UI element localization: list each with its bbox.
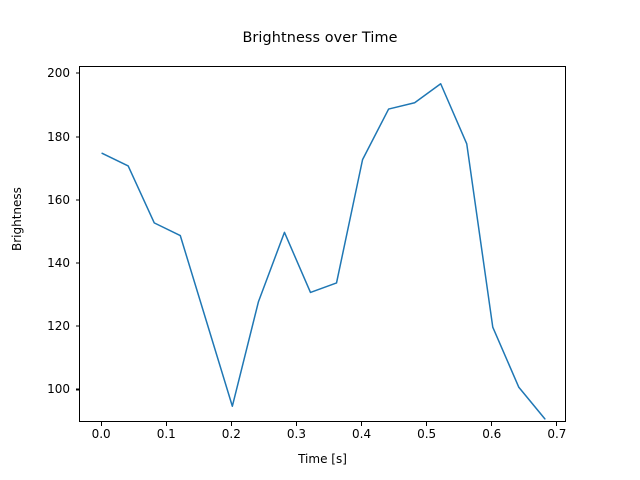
x-tick-label: 0.6: [482, 427, 501, 441]
y-tick-label: 160: [47, 193, 79, 207]
chart-title: Brightness over Time: [0, 30, 640, 46]
x-tick-mark: [556, 422, 557, 426]
x-tick-label: 0.7: [547, 427, 566, 441]
x-tick-mark: [296, 422, 297, 426]
x-tick-label: 0.2: [222, 427, 241, 441]
y-tick-label: 100: [47, 382, 79, 396]
y-axis-label: Brightness: [10, 187, 24, 251]
x-tick-label: 0.3: [287, 427, 306, 441]
x-tick-label: 0.1: [157, 427, 176, 441]
y-tick-label: 200: [47, 66, 79, 80]
brightness-line: [102, 84, 545, 419]
y-tick-label: 140: [47, 256, 79, 270]
x-tick-label: 0.4: [352, 427, 371, 441]
x-tick-mark: [361, 422, 362, 426]
y-tick-label: 120: [47, 319, 79, 333]
x-tick-label: 0.0: [92, 427, 111, 441]
chart-figure: Brightness over Time 100120140160180200 …: [0, 0, 640, 480]
plot-area: [79, 66, 566, 422]
x-tick-mark: [426, 422, 427, 426]
x-axis-label: Time [s]: [79, 452, 566, 466]
x-tick-mark: [491, 422, 492, 426]
x-tick-mark: [166, 422, 167, 426]
y-tick-label: 180: [47, 130, 79, 144]
line-series-svg: [80, 67, 567, 423]
x-tick-label: 0.5: [417, 427, 436, 441]
x-tick-mark: [231, 422, 232, 426]
x-tick-mark: [101, 422, 102, 426]
